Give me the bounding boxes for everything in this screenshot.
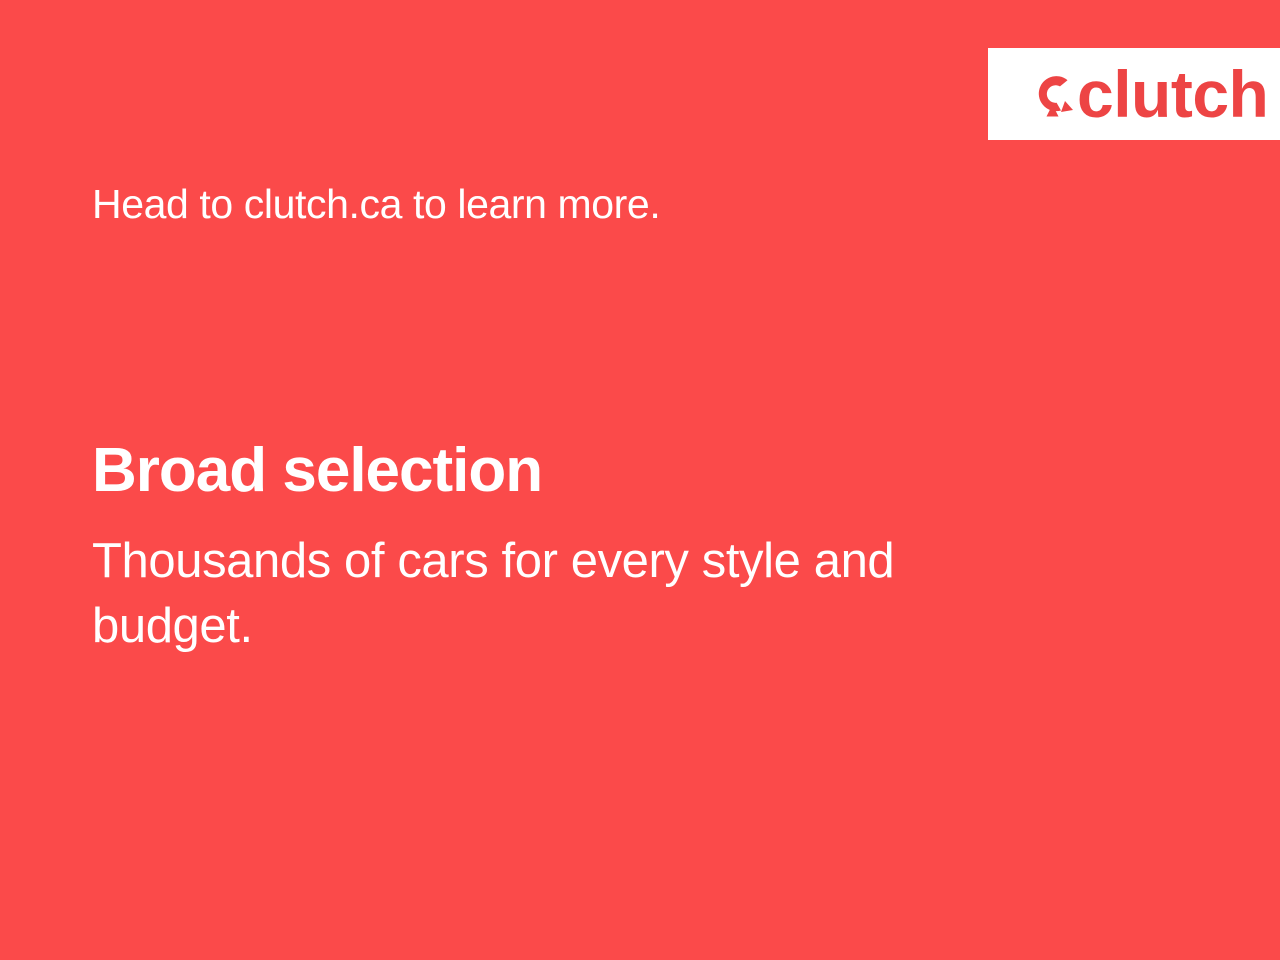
slide-canvas: clutch Head to clutch.ca to learn more. …: [0, 0, 1280, 960]
clutch-logo-lockup[interactable]: clutch: [1028, 61, 1268, 127]
headline: Broad selection: [92, 438, 1092, 503]
clutch-wordmark: clutch: [1077, 61, 1268, 127]
kicker-text: Head to clutch.ca to learn more.: [92, 180, 660, 229]
clutch-logo-plate[interactable]: clutch: [988, 48, 1280, 140]
subcopy: Thousands of cars for every style and bu…: [92, 529, 1022, 658]
clutch-c-mark-icon: [1028, 69, 1074, 119]
content-block: Broad selection Thousands of cars for ev…: [92, 438, 1092, 658]
